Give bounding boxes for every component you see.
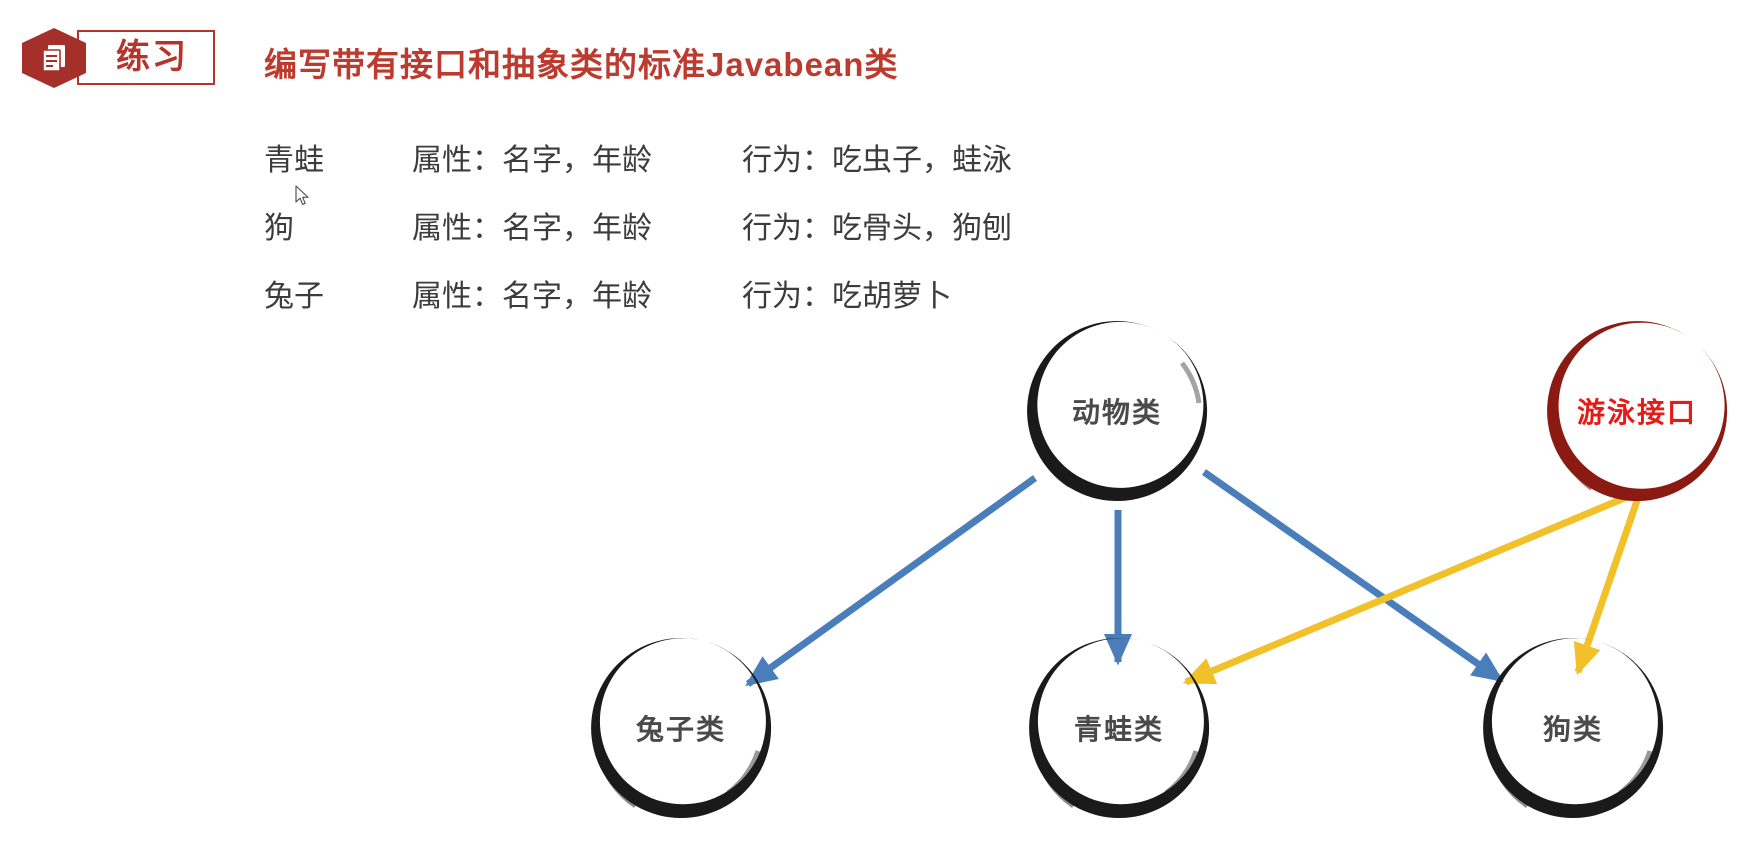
spec-name: 青蛙 xyxy=(264,135,324,179)
spec-list: 青蛙 属性：名字，年龄 行为：吃虫子，蛙泳 狗 属性：名字，年龄 行为：吃骨头，… xyxy=(264,135,1104,339)
diagram-node-dog[interactable]: 狗类 xyxy=(1470,625,1676,831)
badge-label: 练习 xyxy=(96,31,208,83)
spec-behaviors: 行为：吃虫子，蛙泳 xyxy=(742,135,1012,179)
edge-interface-to-frog xyxy=(1186,494,1634,682)
diagram-node-label: 兔子类 xyxy=(578,625,784,831)
spec-behaviors: 行为：吃骨头，狗刨 xyxy=(742,203,1012,247)
page-title: 编写带有接口和抽象类的标准Javabean类 xyxy=(264,38,898,86)
document-icon xyxy=(39,42,69,74)
header-badge: 练习 xyxy=(22,28,219,88)
list-item: 狗 属性：名字，年龄 行为：吃骨头，狗刨 xyxy=(264,203,1104,271)
diagram-node-label: 青蛙类 xyxy=(1016,625,1222,831)
brush-circle-icon xyxy=(578,625,784,831)
brush-circle-icon xyxy=(1534,308,1740,514)
spec-behaviors: 行为：吃胡萝卜 xyxy=(742,271,952,315)
edge-animal-to-rabbit xyxy=(748,478,1035,684)
mouse-pointer-icon xyxy=(295,185,311,207)
diagram-node-rabbit[interactable]: 兔子类 xyxy=(578,625,784,831)
diagram-node-label: 狗类 xyxy=(1470,625,1676,831)
diagram-node-label: 游泳接口 xyxy=(1534,308,1740,514)
brush-circle-icon xyxy=(1470,625,1676,831)
edge-interface-to-dog xyxy=(1578,495,1639,672)
spec-attributes: 属性：名字，年龄 xyxy=(412,203,652,247)
diagram-node-frog[interactable]: 青蛙类 xyxy=(1016,625,1222,831)
diagram-node-interface[interactable]: 游泳接口 xyxy=(1534,308,1740,514)
spec-attributes: 属性：名字，年龄 xyxy=(412,271,652,315)
list-item: 兔子 属性：名字，年龄 行为：吃胡萝卜 xyxy=(264,271,1104,339)
spec-name: 狗 xyxy=(264,203,294,247)
list-item: 青蛙 属性：名字，年龄 行为：吃虫子，蛙泳 xyxy=(264,135,1104,203)
spec-name: 兔子 xyxy=(264,271,324,315)
diagram-arrow-layer xyxy=(0,0,1740,854)
spec-attributes: 属性：名字，年龄 xyxy=(412,135,652,179)
edge-animal-to-dog xyxy=(1204,472,1501,680)
brush-circle-icon xyxy=(1016,625,1222,831)
class-diagram: 动物类 游泳接口 兔子类 青蛙类 狗类 xyxy=(0,0,1740,854)
